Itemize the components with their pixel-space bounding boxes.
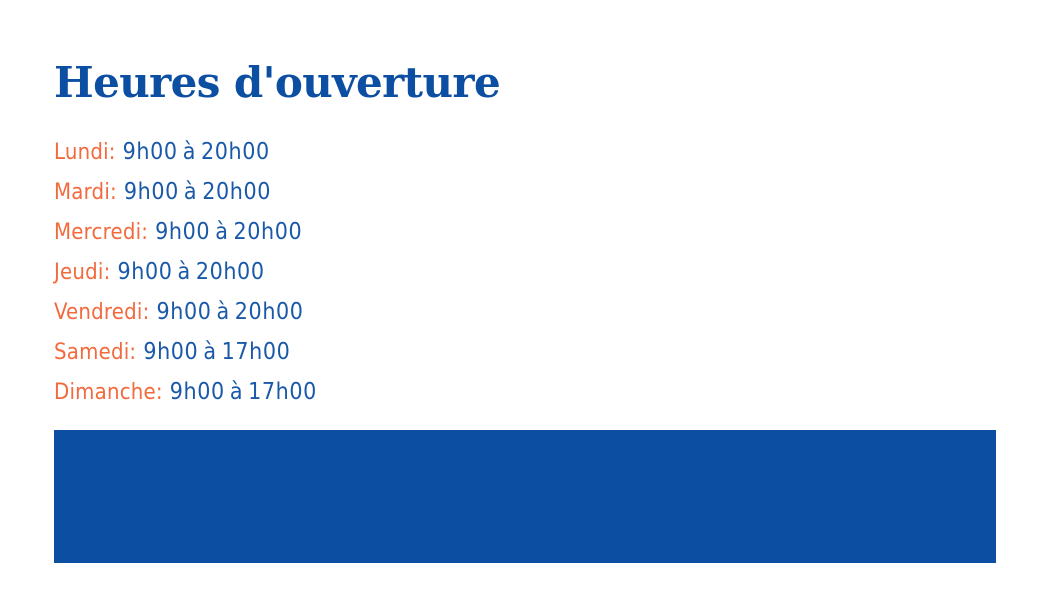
slide-canvas: Heures d'ouverture Lundi: 9h00à20h00 Mar…	[0, 0, 1050, 600]
time-separator: à	[225, 379, 248, 405]
time-range: 9h00à17h00	[143, 332, 290, 372]
time-range: 9h00à20h00	[123, 132, 270, 172]
list-item: Vendredi: 9h00à20h00	[54, 292, 654, 332]
close-time: 17h00	[248, 379, 317, 405]
list-item: Samedi: 9h00à17h00	[54, 332, 654, 372]
day-label: Mercredi:	[54, 213, 148, 253]
day-label: Vendredi:	[54, 293, 150, 333]
open-time: 9h00	[170, 379, 225, 405]
page-title: Heures d'ouverture	[54, 59, 500, 107]
list-item: Mardi: 9h00à20h00	[54, 172, 654, 212]
open-time: 9h00	[155, 219, 210, 245]
close-time: 20h00	[196, 259, 265, 285]
opening-hours-list: Lundi: 9h00à20h00 Mardi: 9h00à20h00 Merc…	[54, 132, 654, 412]
close-time: 17h00	[222, 339, 291, 365]
time-separator: à	[179, 179, 202, 205]
close-time: 20h00	[202, 179, 271, 205]
open-time: 9h00	[118, 259, 173, 285]
time-separator: à	[210, 219, 233, 245]
close-time: 20h00	[201, 139, 270, 165]
day-label: Dimanche:	[54, 373, 163, 413]
time-range: 9h00à20h00	[124, 172, 271, 212]
close-time: 20h00	[233, 219, 302, 245]
time-range: 9h00à20h00	[157, 292, 304, 332]
time-separator: à	[198, 339, 221, 365]
bottom-banner-block	[54, 430, 996, 563]
close-time: 20h00	[235, 299, 304, 325]
day-label: Samedi:	[54, 333, 136, 373]
time-separator: à	[212, 299, 235, 325]
time-range: 9h00à17h00	[170, 372, 317, 412]
time-range: 9h00à20h00	[155, 212, 302, 252]
list-item: Dimanche: 9h00à17h00	[54, 372, 654, 412]
day-label: Lundi:	[54, 133, 116, 173]
time-separator: à	[173, 259, 196, 285]
list-item: Lundi: 9h00à20h00	[54, 132, 654, 172]
time-range: 9h00à20h00	[118, 252, 265, 292]
open-time: 9h00	[143, 339, 198, 365]
open-time: 9h00	[124, 179, 179, 205]
open-time: 9h00	[123, 139, 178, 165]
day-label: Jeudi:	[54, 253, 111, 293]
list-item: Mercredi: 9h00à20h00	[54, 212, 654, 252]
time-separator: à	[178, 139, 201, 165]
list-item: Jeudi: 9h00à20h00	[54, 252, 654, 292]
open-time: 9h00	[157, 299, 212, 325]
day-label: Mardi:	[54, 173, 117, 213]
